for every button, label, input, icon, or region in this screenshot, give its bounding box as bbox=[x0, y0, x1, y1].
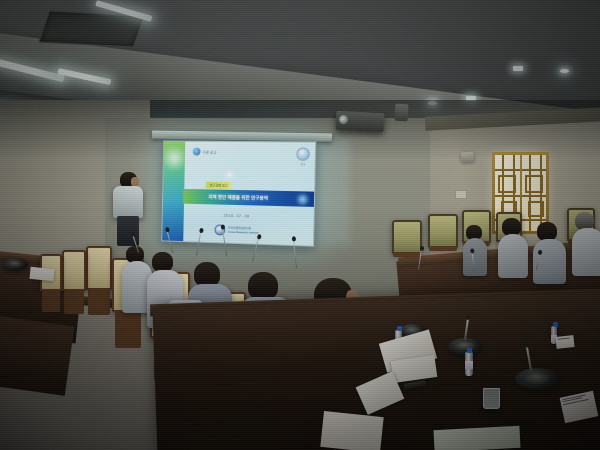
slide-corner-logo-icon bbox=[296, 147, 310, 160]
bottle-label bbox=[465, 361, 473, 369]
conference-mic-base-1[interactable] bbox=[515, 368, 559, 390]
water-bottle-1[interactable] bbox=[465, 352, 473, 376]
wall-speaker bbox=[461, 152, 475, 163]
attendee-head bbox=[152, 252, 173, 272]
bottle-cap bbox=[553, 322, 558, 327]
slide-sparkle-icon bbox=[227, 173, 231, 177]
attendee-head bbox=[248, 272, 278, 300]
ceiling-access-panel bbox=[38, 10, 144, 47]
slide-corner-logo: 로고 bbox=[296, 147, 310, 165]
slide-org-name-line2: Korea Research Institute bbox=[228, 229, 259, 234]
seated-attendee-r1 bbox=[498, 218, 532, 288]
slide-org-footer: 한국지방행정연구원 Korea Research Institute bbox=[162, 223, 313, 239]
presenter-shirt bbox=[113, 186, 143, 218]
wall-switch-plate[interactable] bbox=[455, 190, 467, 199]
slide-corner-logo-label: 로고 bbox=[296, 162, 309, 166]
presenter-standing bbox=[110, 172, 150, 252]
slide-org-name: 한국지방행정연구원 Korea Research Institute bbox=[228, 227, 259, 235]
bottle-cap bbox=[397, 326, 402, 331]
slide-title-text: 지역 현안 해결을 위한 연구용역 bbox=[208, 194, 268, 201]
slide-header-logo-label: 기관 로고 bbox=[202, 149, 216, 154]
handout-paper-5[interactable] bbox=[320, 411, 383, 450]
bottle-cap bbox=[467, 348, 472, 353]
slide-date: 2016. 07. 28 bbox=[163, 212, 314, 220]
slide-logo-mark-icon bbox=[193, 148, 201, 156]
conference-mic-base-4[interactable] bbox=[2, 258, 28, 271]
ceiling-projector bbox=[336, 111, 385, 132]
projector-lens bbox=[339, 115, 348, 124]
attendee-torso bbox=[498, 234, 528, 278]
drinking-glass-1[interactable] bbox=[483, 388, 500, 409]
conference-chair-r1[interactable] bbox=[428, 214, 458, 259]
conference-chair-l2[interactable] bbox=[62, 250, 86, 316]
conference-chair-l1[interactable] bbox=[86, 246, 112, 316]
conference-chair-r2[interactable] bbox=[392, 220, 422, 265]
conference-room-photo: 기관 로고 로고 연구과제 보고 지역 현안 해결을 위한 연구용역 2016.… bbox=[0, 0, 600, 450]
conference-table-left-lower bbox=[0, 314, 74, 396]
handout-paper-6[interactable] bbox=[29, 267, 54, 281]
name-card-2 bbox=[555, 335, 574, 349]
attendee-torso bbox=[572, 228, 600, 276]
projection-screen[interactable]: 기관 로고 로고 연구과제 보고 지역 현안 해결을 위한 연구용역 2016.… bbox=[161, 141, 316, 247]
downlight-3 bbox=[560, 69, 569, 73]
conference-chair-l3[interactable] bbox=[40, 254, 62, 314]
slide-subtitle-chip: 연구과제 보고 bbox=[206, 181, 232, 188]
projector-mount bbox=[395, 104, 409, 122]
handout-paper-4[interactable] bbox=[433, 426, 520, 450]
downlight-2 bbox=[513, 66, 523, 71]
presentation-slide: 기관 로고 로고 연구과제 보고 지역 현안 해결을 위한 연구용역 2016.… bbox=[162, 142, 315, 246]
seated-attendee-r3 bbox=[572, 212, 600, 284]
slide-header-logo: 기관 로고 bbox=[193, 148, 217, 156]
